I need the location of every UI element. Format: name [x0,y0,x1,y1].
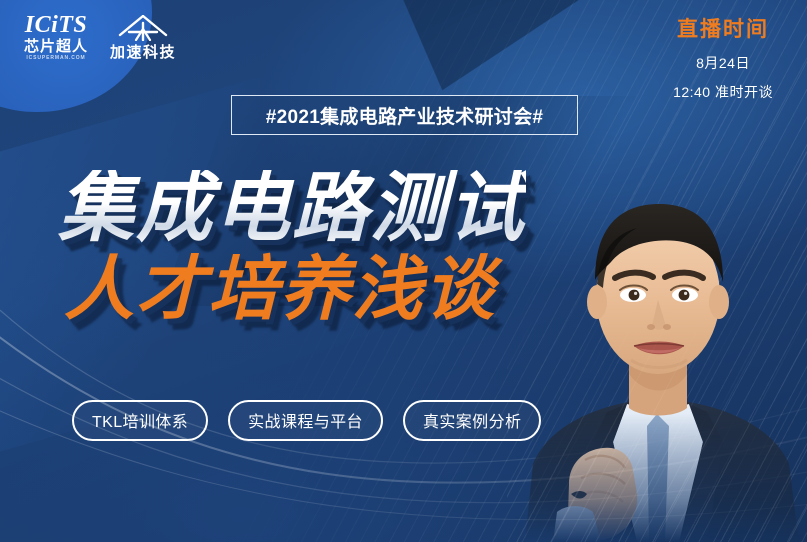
page-title: 集成电路测试 人才培养浅谈 [58,170,526,325]
accelerated-tech-mountain-icon[interactable]: 加速科技 [110,13,176,60]
topic-banner-text: #2021集成电路产业技术研讨会# [266,102,544,129]
icits-logo-name: 芯片超人 [24,39,88,54]
headline-line-1: 集成电路测试 [58,170,526,248]
webinar-poster: ICiTS 芯片超人 ICSUPERMAN.COM 加速科技 直播时间 8月24… [0,0,807,542]
logo-group: ICiTS 芯片超人 ICSUPERMAN.COM 加速科技 [24,13,176,61]
live-time-title: 直播时间 [673,18,773,41]
tag-group: TKL培训体系 实战课程与平台 真实案例分析 [72,400,541,441]
background-triangle-top [373,0,587,108]
live-time-date: 8月24日 [673,53,773,73]
topic-banner: #2021集成电路产业技术研讨会# [231,95,578,135]
icits-logo-url: ICSUPERMAN.COM [26,56,85,61]
speaker-portrait [507,112,807,542]
tag-item-2[interactable]: 真实案例分析 [403,400,541,441]
tag-item-1[interactable]: 实战课程与平台 [228,400,383,441]
headline-line-2: 人才培养浅谈 [64,254,526,325]
icits-logo-icon[interactable]: ICiTS 芯片超人 ICSUPERMAN.COM [24,13,88,61]
mountain-chevron-icon [116,15,170,41]
live-time-block: 直播时间 8月24日 12:40 准时开谈 [673,18,773,102]
live-time-hour: 12:40 准时开谈 [673,82,773,102]
accelerated-tech-name: 加速科技 [110,45,176,60]
tag-item-0[interactable]: TKL培训体系 [72,400,208,441]
icits-logo-mark: ICiTS [25,13,88,37]
